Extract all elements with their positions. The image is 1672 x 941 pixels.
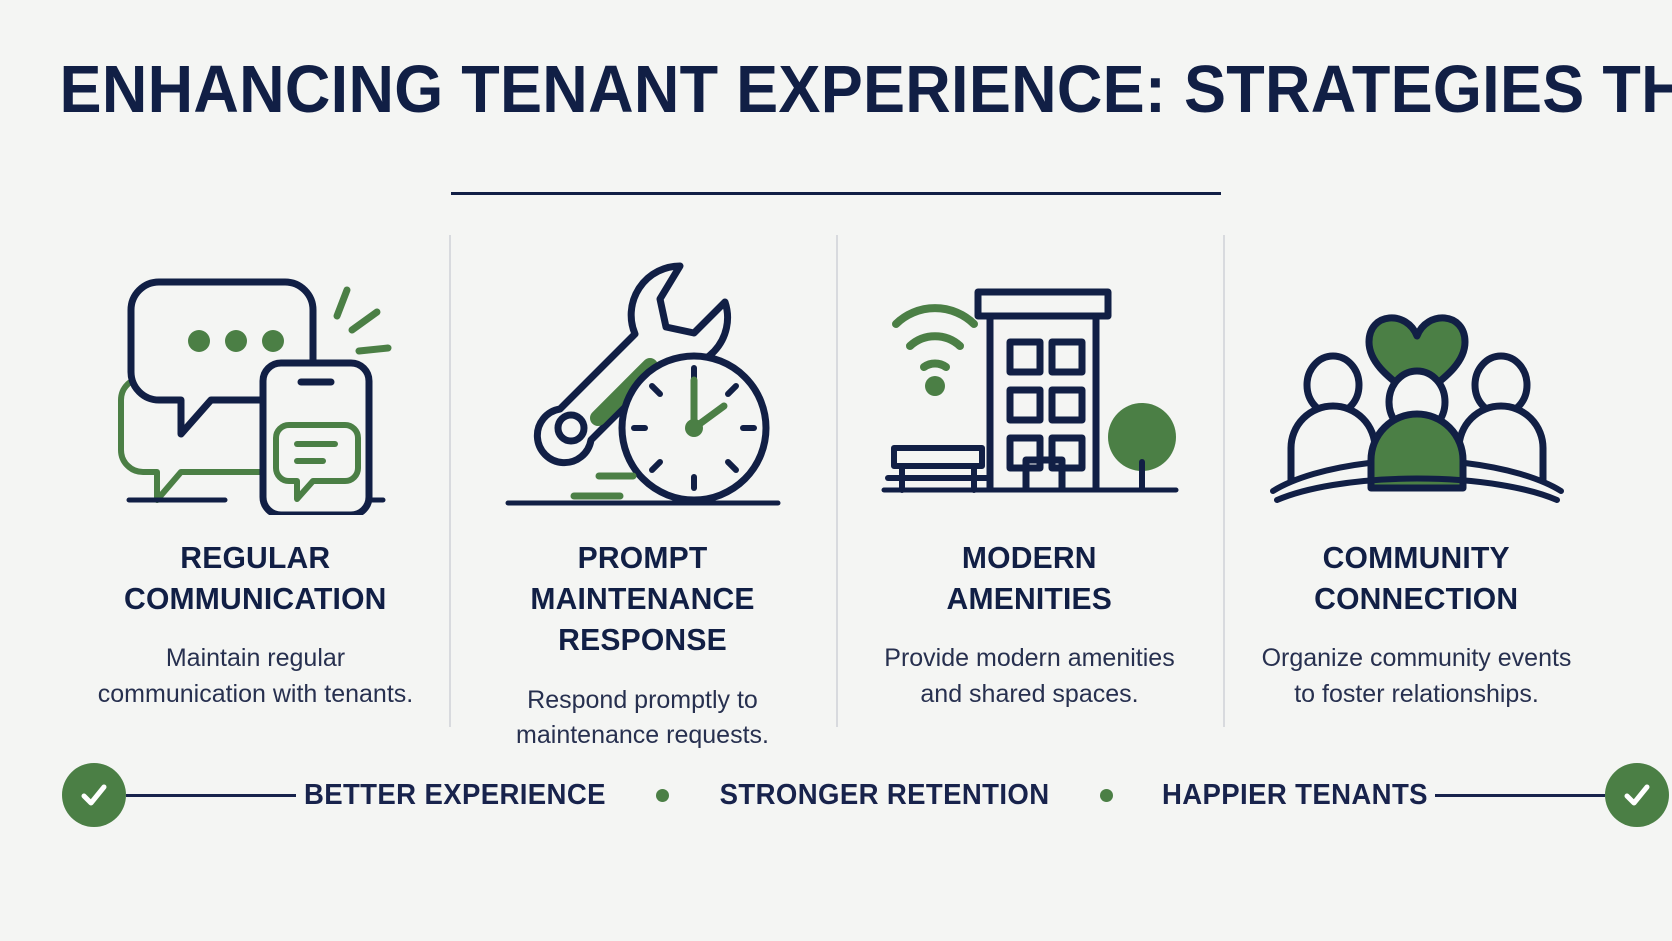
strategy-columns: REGULAR COMMUNICATION Maintain regular c… [62, 245, 1610, 754]
strategy-card-modern-amenities[interactable]: MODERN AMENITIES Provide modern amenitie… [836, 245, 1223, 712]
strategy-card-community-connection[interactable]: COMMUNITY CONNECTION Organize community … [1223, 245, 1610, 712]
footer-label-stronger-retention: STRONGER RETENTION [719, 779, 1049, 812]
chat-bubbles-phone-icon [106, 245, 406, 515]
card-description: Maintain regular communication with tena… [98, 641, 413, 712]
footer-rule-left [126, 794, 296, 797]
people-heart-icon [1267, 245, 1567, 515]
footer-rule-right [1435, 794, 1605, 797]
card-description: Respond promptly to maintenance requests… [516, 683, 769, 754]
check-badge-right [1605, 763, 1669, 827]
footer-outcomes-bar: BETTER EXPERIENCE STRONGER RETENTION HAP… [62, 755, 1610, 835]
title-block: ENHANCING TENANT EXPERIENCE: STRATEGIES … [0, 56, 1672, 123]
footer-separator-dot [656, 789, 669, 802]
strategy-card-regular-communication[interactable]: REGULAR COMMUNICATION Maintain regular c… [62, 245, 449, 712]
card-title: COMMUNITY CONNECTION [1314, 537, 1518, 619]
strategy-card-prompt-maintenance-response[interactable]: PROMPT MAINTENANCE RESPONSE Respond prom… [449, 245, 836, 754]
check-icon [1620, 778, 1654, 812]
check-badge-left [62, 763, 126, 827]
page-title: ENHANCING TENANT EXPERIENCE: STRATEGIES … [50, 56, 1622, 123]
card-description: Provide modern amenities and shared spac… [884, 641, 1174, 712]
card-title: MODERN AMENITIES [947, 537, 1112, 619]
wrench-clock-icon [493, 245, 793, 515]
footer-label-happier-tenants: HAPPIER TENANTS [1162, 779, 1428, 812]
card-description: Organize community events to foster rela… [1262, 641, 1572, 712]
check-icon [77, 778, 111, 812]
footer-separator-dot [1100, 789, 1113, 802]
building-wifi-bench-tree-icon [880, 245, 1180, 515]
card-title: PROMPT MAINTENANCE RESPONSE [468, 537, 816, 661]
footer-label-better-experience: BETTER EXPERIENCE [304, 779, 606, 812]
infographic-canvas: ENHANCING TENANT EXPERIENCE: STRATEGIES … [0, 0, 1672, 941]
card-title: REGULAR COMMUNICATION [124, 537, 387, 619]
footer-labels-group: BETTER EXPERIENCE STRONGER RETENTION HAP… [296, 779, 1435, 812]
title-underline-rule [451, 192, 1221, 195]
